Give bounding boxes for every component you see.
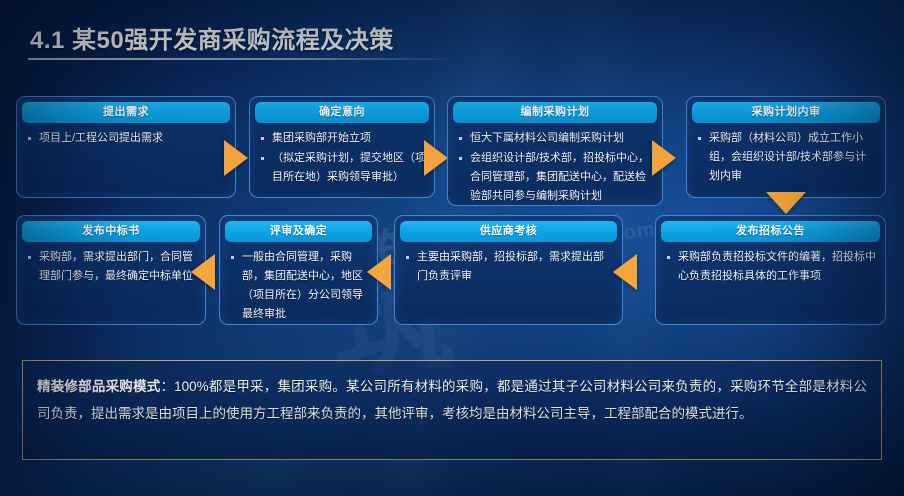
list-item: 一般由合同管理，采购部，集团配送中心，地区（项目所在）分公司领导最终审批 — [229, 248, 369, 324]
flow-box-8[interactable]: 发布中标书 采购部，需求提出部门，合同管理部门参与，最终确定中标单位 — [16, 215, 206, 325]
flow-box-2-list: 集团采购部开始立项 （拟定采购计划，提交地区（项目所在地）采购领导审批） — [250, 129, 434, 187]
arrow-left-2 — [367, 254, 391, 290]
list-item: 采购部负责招投标文件的编著，招投标中心负责招投标具体的工作事项 — [665, 248, 877, 286]
arrow-right-2 — [424, 140, 448, 176]
summary-note-text: 精装修部品采购模式：100%都是甲采，集团采购。某公司所有材料的采购，都是通过其… — [37, 373, 867, 427]
flow-box-6-list: 主要由采购部，招投标部，需求提出部门负责评审 — [395, 248, 622, 286]
flow-box-1-title: 提出需求 — [22, 102, 230, 123]
flow-box-4-title: 采购计划内审 — [692, 102, 880, 123]
list-item: 会组织设计部/技术部，招投标中心，合同管理部，集团配送中心，配送检验部共同参与编… — [457, 149, 654, 206]
flow-box-5[interactable]: 发布招标公告 采购部负责招投标文件的编著，招投标中心负责招投标具体的工作事项 — [655, 215, 886, 325]
arrow-left-3 — [613, 254, 637, 290]
flow-box-1-list: 项目上/工程公司提出需求 — [17, 129, 235, 148]
title-underline — [28, 58, 458, 60]
flow-box-6-title: 供应商考核 — [400, 221, 617, 242]
flow-box-3-list: 恒大下属材料公司编制采购计划 会组织设计部/技术部，招投标中心，合同管理部，集团… — [448, 129, 662, 206]
flow-box-1[interactable]: 提出需求 项目上/工程公司提出需求 — [16, 96, 236, 198]
arrow-left-1 — [191, 254, 215, 290]
list-item: （拟定采购计划，提交地区（项目所在地）采购领导审批） — [259, 149, 426, 187]
list-item: 采购部，需求提出部门，合同管理部门参与，最终确定中标单位 — [26, 248, 197, 286]
flow-box-4-list: 采购部（材料公司）成立工作小组，会组织设计部/技术部参与计划内审 — [687, 129, 885, 186]
flow-box-8-list: 采购部，需求提出部门，合同管理部门参与，最终确定中标单位 — [17, 248, 205, 286]
arrow-right-3 — [652, 140, 676, 176]
flow-box-2-title: 确定意向 — [255, 102, 429, 123]
list-item: 集团采购部开始立项 — [259, 129, 426, 148]
list-item: 采购部（材料公司）成立工作小组，会组织设计部/技术部参与计划内审 — [696, 129, 877, 186]
flow-box-8-title: 发布中标书 — [22, 221, 200, 242]
arrow-right-1 — [224, 140, 248, 176]
flow-box-7-list: 一般由合同管理，采购部，集团配送中心，地区（项目所在）分公司领导最终审批 — [220, 248, 377, 324]
flow-box-4[interactable]: 采购计划内审 采购部（材料公司）成立工作小组，会组织设计部/技术部参与计划内审 — [686, 96, 886, 198]
summary-note-lead: 精装修部品采购模式 — [37, 379, 160, 394]
list-item: 恒大下属材料公司编制采购计划 — [457, 129, 654, 148]
summary-note: 精装修部品采购模式：100%都是甲采，集团采购。某公司所有材料的采购，都是通过其… — [22, 360, 882, 460]
flow-box-7[interactable]: 评审及确定 一般由合同管理，采购部，集团配送中心，地区（项目所在）分公司领导最终… — [219, 215, 378, 325]
list-item: 主要由采购部，招投标部，需求提出部门负责评审 — [404, 248, 614, 286]
flow-box-2[interactable]: 确定意向 集团采购部开始立项 （拟定采购计划，提交地区（项目所在地）采购领导审批… — [249, 96, 435, 198]
arrow-down-1 — [766, 192, 806, 214]
flow-box-5-title: 发布招标公告 — [661, 221, 880, 242]
flow-box-3[interactable]: 编制采购计划 恒大下属材料公司编制采购计划 会组织设计部/技术部，招投标中心，合… — [447, 96, 663, 206]
page-title: 4.1 某50强开发商采购流程及决策 — [30, 20, 394, 55]
flow-box-7-title: 评审及确定 — [225, 221, 372, 242]
flow-box-3-title: 编制采购计划 — [453, 102, 657, 123]
flow-box-6[interactable]: 供应商考核 主要由采购部，招投标部，需求提出部门负责评审 — [394, 215, 623, 325]
list-item: 项目上/工程公司提出需求 — [26, 129, 227, 148]
summary-note-body: ：100%都是甲采，集团采购。某公司所有材料的采购，都是通过其子公司材料公司来负… — [37, 379, 867, 421]
slide-canvas: 4.1 某50强开发商采购流程及决策 筑 筑牛网 zhuniu.com 提出需求… — [0, 0, 904, 496]
flow-box-5-list: 采购部负责招投标文件的编著，招投标中心负责招投标具体的工作事项 — [656, 248, 885, 286]
